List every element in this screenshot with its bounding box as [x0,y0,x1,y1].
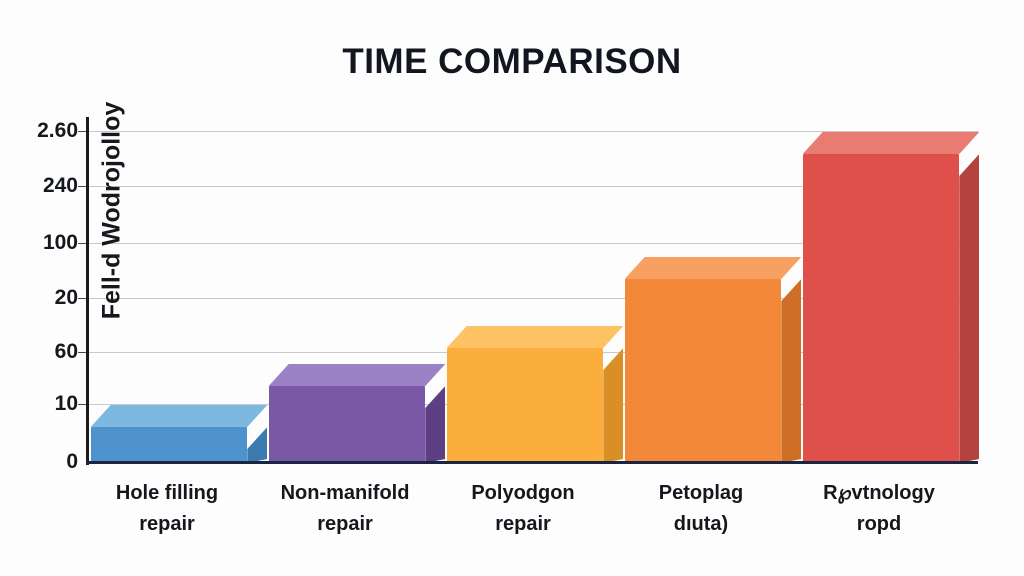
bar-top-face [91,405,268,427]
bar-top-face [803,132,980,154]
bar-front-face [91,427,248,463]
bar-front-face [803,154,960,463]
plot-area [88,120,978,463]
x-axis-line [86,461,978,464]
x-axis-tick-label: Petoplagdıuta) [612,478,790,540]
bar [91,405,248,463]
x-axis-tick-label-line: Non-manifold [256,478,434,509]
bar-top-face [625,257,802,279]
y-axis-title: Fell-d Wodrojolloy [98,81,127,341]
bar-side-face [959,154,979,463]
x-axis-tick-label-line: Polyodgon [434,478,612,509]
bar-side-face [603,348,623,463]
x-axis-tick-label: Non-manifoldrepair [256,478,434,540]
y-axis-tick-label: 10 [55,392,78,416]
bar [803,132,960,463]
x-axis-tick-label: R℘vtnologyropd [790,478,968,540]
y-axis-tick-label: 20 [55,286,78,310]
bar-side-face [425,386,445,463]
y-axis-line [86,117,89,465]
chart-canvas: TIME COMPARISON 2.602401002060100 Fell-d… [0,0,1024,576]
bar-side-face [247,427,267,463]
bar-front-face [447,348,604,463]
y-axis-tick-label: 2.60 [37,119,78,143]
y-axis-tick-label: 100 [43,231,78,255]
page-title: TIME COMPARISON [0,42,1024,82]
x-axis-tick-label-line: repair [78,509,256,540]
bar [625,257,782,463]
bar-top-face [269,364,446,386]
x-axis-tick-label-line: R℘vtnology [790,478,968,509]
bar-top-face [447,326,624,348]
bar-front-face [625,279,782,463]
y-axis-tick-label: 240 [43,174,78,198]
y-axis-tick-labels: 2.602401002060100 [0,0,78,576]
y-axis-tick-label: 0 [66,450,78,474]
bar-side-face [781,279,801,463]
x-axis-tick-label-line: repair [434,509,612,540]
x-axis-tick-label-line: repair [256,509,434,540]
x-axis-tick-label-line: Petoplag [612,478,790,509]
x-axis-tick-label-line: dıuta) [612,509,790,540]
bar [447,326,604,463]
x-axis-tick-label: Polyodgonrepair [434,478,612,540]
x-axis-tick-label-line: Hole filling [78,478,256,509]
bar-front-face [269,386,426,463]
x-axis-tick-label: Hole fillingrepair [78,478,256,540]
bar [269,364,426,463]
y-axis-tick-label: 60 [55,340,78,364]
x-axis-tick-label-line: ropd [790,509,968,540]
